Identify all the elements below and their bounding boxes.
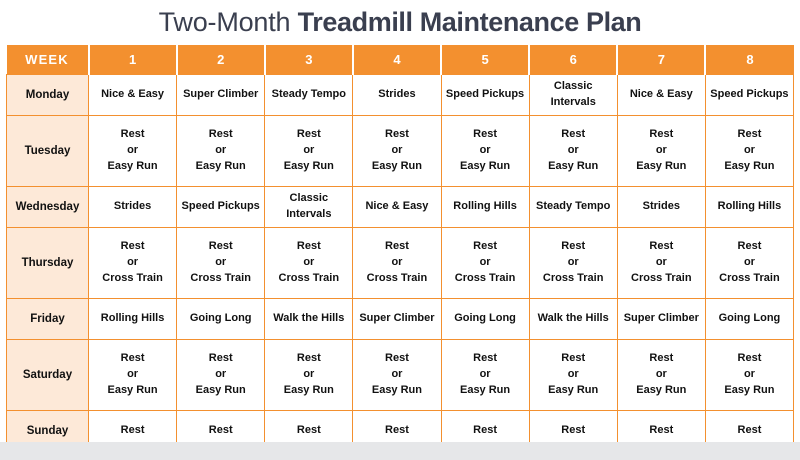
workout-cell: RestorCross Train xyxy=(89,228,177,299)
workout-cell: Super Climber xyxy=(353,299,441,340)
workout-cell: Strides xyxy=(617,187,705,228)
page-title-bold: Treadmill Maintenance Plan xyxy=(298,7,642,37)
workout-line: Easy Run xyxy=(444,159,527,175)
workout-cell: RestorEasy Run xyxy=(705,116,793,187)
workout-cell: Nice & Easy xyxy=(353,187,441,228)
page-title: Two-Month Treadmill Maintenance Plan xyxy=(159,9,642,36)
workout-line: or xyxy=(355,367,438,383)
workout-cell: RestorEasy Run xyxy=(265,116,353,187)
workout-line: Easy Run xyxy=(267,159,350,175)
workout-line: or xyxy=(532,367,615,383)
workout-cell: RestorEasy Run xyxy=(529,116,617,187)
workout-line: Rest xyxy=(444,351,527,367)
workout-line: Cross Train xyxy=(708,271,791,287)
workout-cell: Going Long xyxy=(441,299,529,340)
table-row: SaturdayRestorEasy RunRestorEasy RunRest… xyxy=(7,340,794,411)
workout-cell: Rolling Hills xyxy=(705,187,793,228)
workout-cell: RestorCross Train xyxy=(265,228,353,299)
workout-line: Easy Run xyxy=(708,159,791,175)
title-bar: Two-Month Treadmill Maintenance Plan xyxy=(0,0,800,45)
workout-cell: Speed Pickups xyxy=(177,187,265,228)
day-label-friday: Friday xyxy=(7,299,89,340)
workout-line: Cross Train xyxy=(620,271,703,287)
workout-cell: Rolling Hills xyxy=(441,187,529,228)
workout-line: Rest xyxy=(355,351,438,367)
workout-line: Easy Run xyxy=(267,383,350,399)
workout-line: or xyxy=(532,143,615,159)
workout-cell: RestorEasy Run xyxy=(89,116,177,187)
workout-cell: RestorCross Train xyxy=(441,228,529,299)
workout-cell: RestorEasy Run xyxy=(441,340,529,411)
workout-line: or xyxy=(355,143,438,159)
workout-line: or xyxy=(267,367,350,383)
treadmill-plan-table: WEEK 1 2 3 4 5 6 7 8 MondayNice & EasySu… xyxy=(6,45,794,452)
workout-line: Rest xyxy=(355,127,438,143)
workout-line: or xyxy=(620,143,703,159)
workout-cell: RestorEasy Run xyxy=(353,116,441,187)
workout-cell: Walk the Hills xyxy=(529,299,617,340)
workout-cell: Classic Intervals xyxy=(265,187,353,228)
workout-line: Easy Run xyxy=(355,383,438,399)
workout-cell: Going Long xyxy=(177,299,265,340)
workout-cell: RestorCross Train xyxy=(617,228,705,299)
table-row: WednesdayStridesSpeed PickupsClassic Int… xyxy=(7,187,794,228)
page-title-light: Two-Month xyxy=(159,7,298,37)
workout-line: Rest xyxy=(620,351,703,367)
table-header: WEEK 1 2 3 4 5 6 7 8 xyxy=(7,45,794,75)
workout-cell: Speed Pickups xyxy=(705,75,793,116)
workout-line: Easy Run xyxy=(532,159,615,175)
workout-line: Rest xyxy=(179,239,262,255)
workout-line: or xyxy=(267,143,350,159)
workout-cell: RestorEasy Run xyxy=(265,340,353,411)
workout-cell: Steady Tempo xyxy=(529,187,617,228)
workout-cell: Strides xyxy=(89,187,177,228)
workout-cell: Rolling Hills xyxy=(89,299,177,340)
workout-line: Rest xyxy=(444,127,527,143)
workout-line: Rest xyxy=(179,127,262,143)
workout-cell: Super Climber xyxy=(617,299,705,340)
header-week-6: 6 xyxy=(529,45,617,75)
workout-line: Rest xyxy=(532,239,615,255)
workout-line: Easy Run xyxy=(708,383,791,399)
workout-line: Easy Run xyxy=(91,159,174,175)
workout-line: Cross Train xyxy=(267,271,350,287)
workout-line: or xyxy=(267,255,350,271)
workout-line: Rest xyxy=(708,239,791,255)
table-body: MondayNice & EasySuper ClimberSteady Tem… xyxy=(7,75,794,452)
workout-line: Rest xyxy=(267,239,350,255)
workout-line: or xyxy=(91,255,174,271)
workout-line: or xyxy=(444,255,527,271)
header-week-label: WEEK xyxy=(7,45,89,75)
workout-cell: RestorEasy Run xyxy=(353,340,441,411)
workout-line: Cross Train xyxy=(91,271,174,287)
workout-cell: RestorEasy Run xyxy=(177,340,265,411)
workout-line: Rest xyxy=(267,127,350,143)
workout-cell: Nice & Easy xyxy=(89,75,177,116)
workout-cell: Strides xyxy=(353,75,441,116)
day-label-wednesday: Wednesday xyxy=(7,187,89,228)
workout-line: Easy Run xyxy=(444,383,527,399)
workout-line: Rest xyxy=(620,127,703,143)
workout-line: or xyxy=(179,367,262,383)
workout-line: Rest xyxy=(708,127,791,143)
workout-line: or xyxy=(179,255,262,271)
workout-cell: RestorEasy Run xyxy=(617,116,705,187)
workout-cell: RestorEasy Run xyxy=(177,116,265,187)
workout-line: Easy Run xyxy=(179,383,262,399)
table-row: FridayRolling HillsGoing LongWalk the Hi… xyxy=(7,299,794,340)
header-week-4: 4 xyxy=(353,45,441,75)
workout-line: Rest xyxy=(444,239,527,255)
workout-cell: RestorCross Train xyxy=(177,228,265,299)
workout-line: or xyxy=(91,367,174,383)
workout-line: Rest xyxy=(532,127,615,143)
workout-cell: Super Climber xyxy=(177,75,265,116)
workout-line: Easy Run xyxy=(355,159,438,175)
day-label-thursday: Thursday xyxy=(7,228,89,299)
header-week-3: 3 xyxy=(265,45,353,75)
workout-cell: RestorEasy Run xyxy=(89,340,177,411)
day-label-tuesday: Tuesday xyxy=(7,116,89,187)
workout-cell: Nice & Easy xyxy=(617,75,705,116)
workout-line: or xyxy=(532,255,615,271)
workout-line: Rest xyxy=(91,127,174,143)
workout-cell: RestorEasy Run xyxy=(617,340,705,411)
workout-line: Easy Run xyxy=(179,159,262,175)
workout-line: or xyxy=(444,143,527,159)
workout-line: Rest xyxy=(267,351,350,367)
workout-cell: RestorEasy Run xyxy=(705,340,793,411)
table-row: ThursdayRestorCross TrainRestorCross Tra… xyxy=(7,228,794,299)
workout-line: Cross Train xyxy=(444,271,527,287)
plan-table-wrapper: WEEK 1 2 3 4 5 6 7 8 MondayNice & EasySu… xyxy=(0,45,800,452)
header-week-2: 2 xyxy=(177,45,265,75)
workout-line: or xyxy=(708,143,791,159)
workout-cell: RestorCross Train xyxy=(529,228,617,299)
workout-line: Rest xyxy=(708,351,791,367)
workout-line: Cross Train xyxy=(355,271,438,287)
workout-line: or xyxy=(179,143,262,159)
workout-line: or xyxy=(444,367,527,383)
workout-line: Rest xyxy=(179,351,262,367)
table-row: TuesdayRestorEasy RunRestorEasy RunResto… xyxy=(7,116,794,187)
workout-line: Cross Train xyxy=(532,271,615,287)
day-label-saturday: Saturday xyxy=(7,340,89,411)
workout-cell: Going Long xyxy=(705,299,793,340)
workout-line: Rest xyxy=(355,239,438,255)
header-week-7: 7 xyxy=(617,45,705,75)
header-week-5: 5 xyxy=(441,45,529,75)
workout-line: or xyxy=(708,255,791,271)
workout-cell: RestorEasy Run xyxy=(529,340,617,411)
workout-cell: RestorEasy Run xyxy=(441,116,529,187)
workout-cell: Speed Pickups xyxy=(441,75,529,116)
workout-line: Easy Run xyxy=(620,159,703,175)
header-row: WEEK 1 2 3 4 5 6 7 8 xyxy=(7,45,794,75)
table-row: MondayNice & EasySuper ClimberSteady Tem… xyxy=(7,75,794,116)
workout-line: Cross Train xyxy=(179,271,262,287)
workout-line: Easy Run xyxy=(91,383,174,399)
workout-line: or xyxy=(355,255,438,271)
header-week-8: 8 xyxy=(705,45,793,75)
workout-cell: Steady Tempo xyxy=(265,75,353,116)
workout-line: Rest xyxy=(620,239,703,255)
header-week-1: 1 xyxy=(89,45,177,75)
workout-cell: RestorCross Train xyxy=(705,228,793,299)
workout-line: or xyxy=(620,255,703,271)
workout-line: Easy Run xyxy=(620,383,703,399)
workout-line: Rest xyxy=(532,351,615,367)
workout-cell: Walk the Hills xyxy=(265,299,353,340)
workout-line: or xyxy=(91,143,174,159)
workout-line: Easy Run xyxy=(532,383,615,399)
workout-line: or xyxy=(620,367,703,383)
workout-cell: Classic Intervals xyxy=(529,75,617,116)
workout-line: Rest xyxy=(91,239,174,255)
day-label-monday: Monday xyxy=(7,75,89,116)
workout-cell: RestorCross Train xyxy=(353,228,441,299)
workout-line: or xyxy=(708,367,791,383)
bottom-gray-band xyxy=(0,442,800,460)
workout-line: Rest xyxy=(91,351,174,367)
